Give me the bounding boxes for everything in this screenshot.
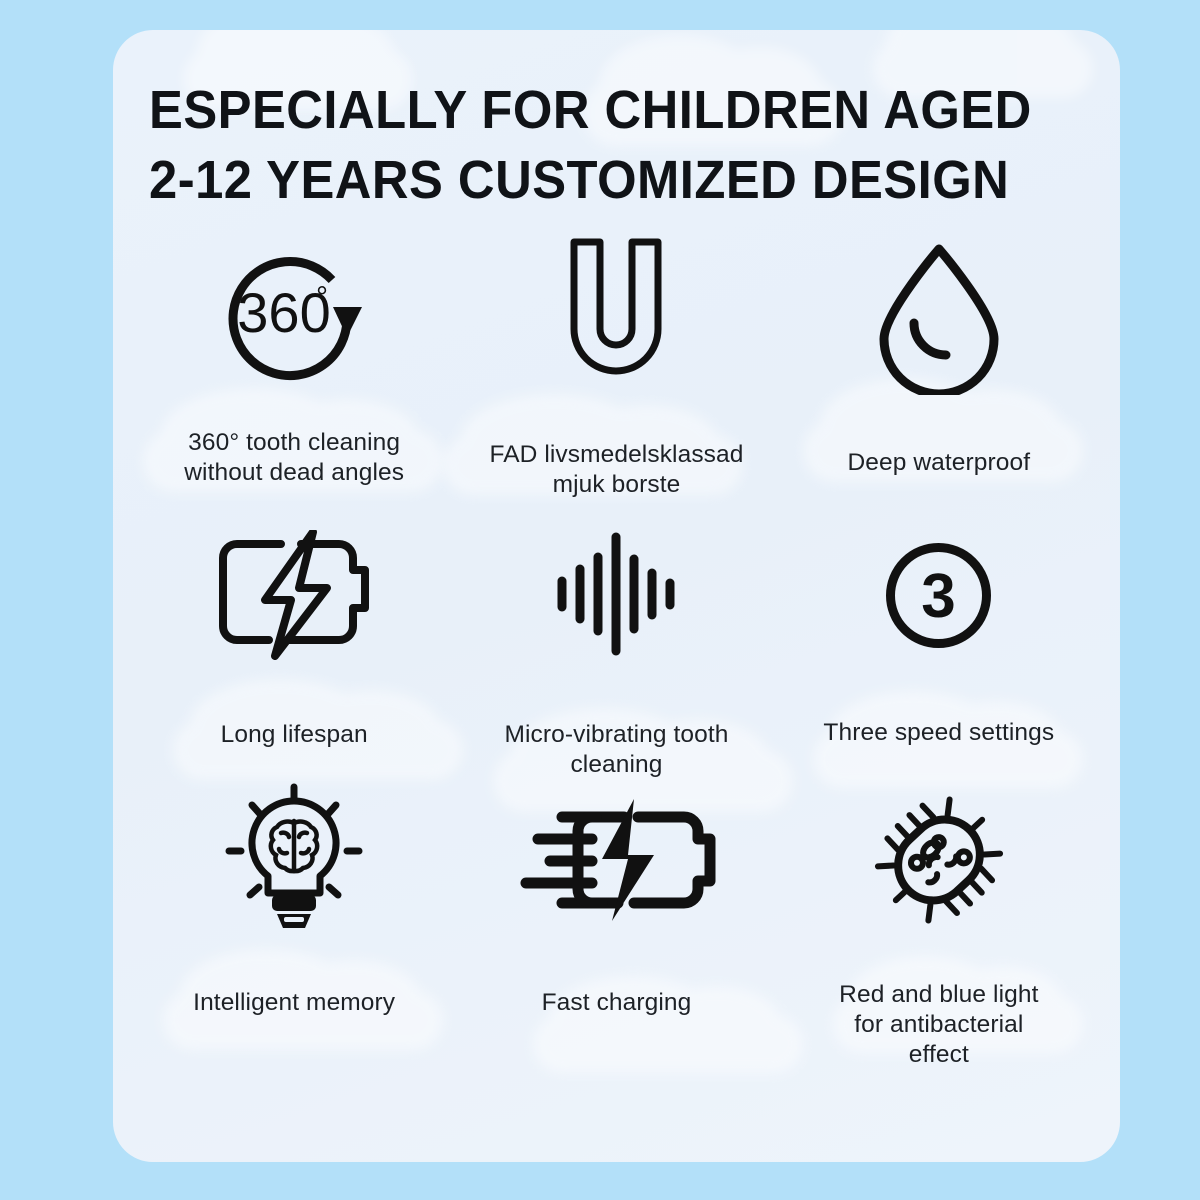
feature-label: Fast charging [542,988,692,1018]
page-title-line-1: ESPECIALLY FOR CHILDREN AGED [149,75,1033,145]
bacteria-icon [864,785,1014,935]
360-degrees-rotation-icon: 360 ° [214,235,374,395]
feature-label: Red and blue light for antibacterial eff… [839,980,1038,1070]
icon-wrap [551,520,681,668]
feature-label-line-1: Fast charging [542,988,692,1018]
feature-label-line-1: Three speed settings [823,718,1054,748]
feature-label-line-1: FAD livsmedelsklassad [489,440,743,470]
feature-item-micro-vibrating: Micro-vibrating tooth cleaning [455,520,777,780]
feature-label: FAD livsmedelsklassad mjuk borste [489,440,743,500]
feature-label: 360° tooth cleaning without dead angles [184,428,404,488]
feature-item-long-lifespan: Long lifespan [133,520,455,780]
feature-item-intelligent-memory: Intelligent memory [133,780,455,1080]
feature-item-antibacterial-light: Red and blue light for antibacterial eff… [778,780,1100,1080]
feature-label-line-1: Red and blue light [839,980,1038,1010]
water-drop-icon [864,235,1014,395]
page-title: ESPECIALLY FOR CHILDREN AGED 2-12 YEARS … [149,75,1033,215]
feature-label-line-1: 360° tooth cleaning [184,428,404,458]
feature-label-line-2: for antibacterial [839,1010,1038,1040]
feature-label: Micro-vibrating tooth cleaning [466,720,766,780]
circled-three-icon: 3 [881,538,996,653]
feature-label-line-2: without dead angles [184,458,404,488]
icon-degree-symbol: ° [316,281,328,314]
feature-label: Deep waterproof [848,448,1031,478]
feature-card: ESPECIALLY FOR CHILDREN AGED 2-12 YEARS … [113,30,1120,1162]
icon-wrap [864,230,1014,400]
feature-label-line-1: Micro-vibrating tooth cleaning [466,720,766,780]
sound-wave-icon [551,529,681,659]
icon-wrap [209,520,379,670]
feature-label: Intelligent memory [193,988,395,1018]
feature-label-line-1: Intelligent memory [193,988,395,1018]
feature-item-three-speeds: 3 Three speed settings [778,520,1100,780]
feature-item-u-brush: FAD livsmedelsklassad mjuk borste [455,230,777,520]
lightbulb-brain-icon [219,783,369,938]
feature-label-line-1: Deep waterproof [848,448,1031,478]
feature-label: Long lifespan [221,720,368,750]
feature-grid: 360 ° 360° tooth cleaning without dead a… [133,230,1100,1080]
icon-wrap [536,230,696,402]
icon-wrap [864,780,1014,940]
feature-label-line-2: mjuk borste [489,470,743,500]
feature-label-line-1: Long lifespan [221,720,368,750]
battery-bolt-icon [209,530,379,660]
icon-wrap: 360 ° [214,230,374,400]
promo-graphic: ESPECIALLY FOR CHILDREN AGED 2-12 YEARS … [0,0,1200,1200]
feature-label: Three speed settings [823,718,1054,748]
feature-item-fast-charging: Fast charging [455,780,777,1080]
icon-wrap [219,780,369,940]
feature-item-waterproof: Deep waterproof [778,230,1100,520]
feature-item-360-cleaning: 360 ° 360° tooth cleaning without dead a… [133,230,455,520]
feature-label-line-3: effect [839,1040,1038,1070]
icon-wrap: 3 [881,520,996,670]
icon-value-3: 3 [922,562,956,631]
icon-wrap [506,780,726,940]
fast-charging-battery-icon [506,795,726,925]
u-shaped-brush-icon [536,234,696,399]
page-title-line-2: 2-12 YEARS CUSTOMIZED DESIGN [149,145,1033,215]
